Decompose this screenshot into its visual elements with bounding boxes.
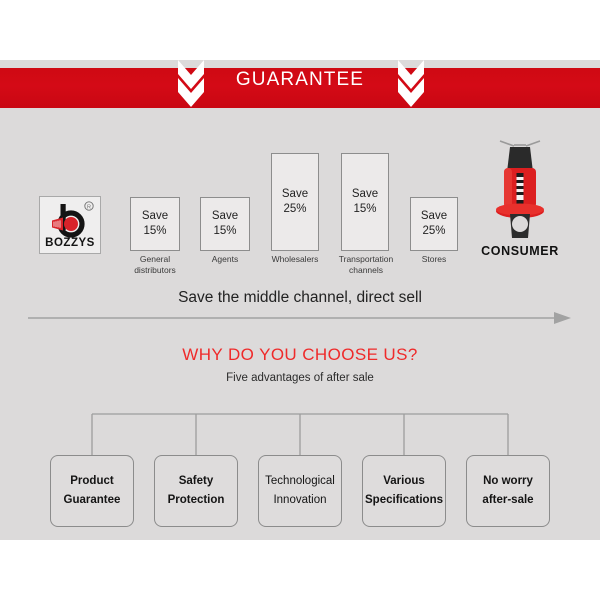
double-chevron-down-icon [398,60,424,112]
advantage-line1: Technological [265,472,335,491]
advantage-line2: after-sale [482,491,533,510]
advantage-line2: Protection [168,491,225,510]
advantage-box-various-specifications: Various Specifications [362,455,446,527]
right-arrow-icon [28,310,572,326]
channel-box-wholesalers: Save 25% [271,153,319,251]
advantage-line2: Innovation [273,491,326,510]
direct-sell-tagline: Save the middle channel, direct sell [0,289,600,307]
banner-strip: GUARANTEE [0,60,600,112]
channel-label-line1: Transportation [339,254,394,264]
channel-label-line1: Agents [212,254,238,264]
channel-save-percent: 15% [143,224,166,239]
channel-label-line2: channels [349,265,383,275]
advantage-line1: Safety [179,472,214,491]
banner-title: GUARANTEE [0,60,600,100]
channel-save-percent: 25% [422,224,445,239]
brand-logo-card: R BOZZYS [39,196,101,254]
channel-label-wholesalers: Wholesalers [258,254,332,265]
channel-save-word: Save [282,187,308,202]
why-choose-us-title: WHY DO YOU CHOOSE US? [0,345,600,365]
svg-text:BOZZYS: BOZZYS [45,237,95,249]
bracket-connector [60,400,540,458]
advantage-box-safety-protection: Safety Protection [154,455,238,527]
channel-label-transportation-channels: Transportation channels [330,254,402,276]
channel-label-agents: Agents [190,254,260,265]
channel-box-agents: Save 15% [200,197,250,251]
advantage-line1: No worry [483,472,533,491]
advantage-box-no-worry-after-sale: No worry after-sale [466,455,550,527]
channel-save-percent: 15% [213,224,236,239]
channel-label-stores: Stores [399,254,469,265]
advantage-box-technological-innovation: Technological Innovation [258,455,342,527]
channel-save-word: Save [352,187,378,202]
channel-save-word: Save [212,209,238,224]
advantage-line1: Product [70,472,113,491]
channel-save-percent: 25% [283,202,306,217]
channel-label-line1: Wholesalers [272,254,319,264]
svg-text:R: R [87,205,91,211]
channel-label-line2: distributors [134,265,176,275]
bozzys-b-logo-icon: R BOZZYS [40,197,100,253]
channel-label-line1: Stores [422,254,447,264]
channel-label-line1: General [140,254,170,264]
channel-box-transportation-channels: Save 15% [341,153,389,251]
why-choose-us-subtitle: Five advantages of after sale [0,372,600,384]
red-valve-lockout-device-icon [494,132,546,242]
channel-box-general-distributors: Save 15% [130,197,180,251]
advantage-box-product-guarantee: Product Guarantee [50,455,134,527]
advantage-line2: Guarantee [64,491,121,510]
infographic-canvas: GUARANTEE R [0,0,600,600]
channel-label-general-distributors: General distributors [120,254,190,276]
consumer-label: CONSUMER [470,244,570,258]
channel-save-word: Save [142,209,168,224]
channel-save-word: Save [421,209,447,224]
channel-save-percent: 15% [353,202,376,217]
advantage-line1: Various [383,472,425,491]
advantage-line2: Specifications [365,491,443,510]
channel-box-stores: Save 25% [410,197,458,251]
